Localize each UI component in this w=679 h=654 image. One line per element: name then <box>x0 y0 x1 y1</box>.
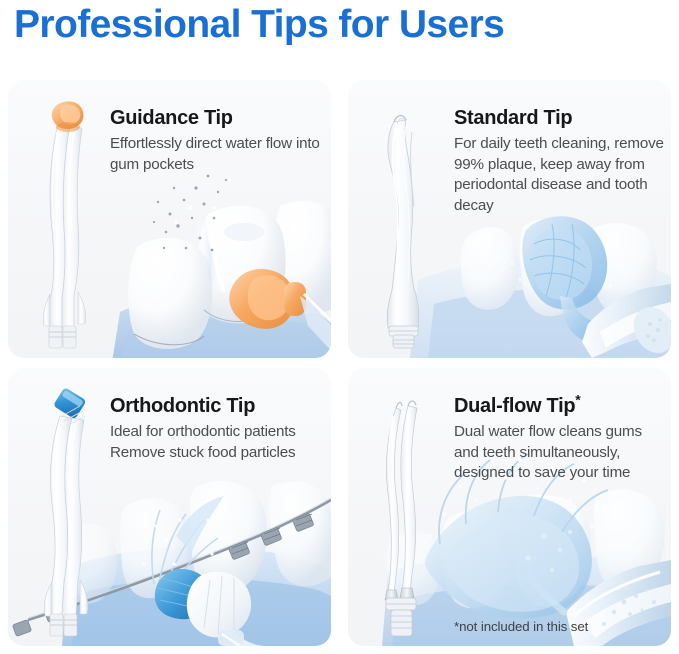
heading-asterisk: * <box>575 391 580 407</box>
card-text-block: Orthodontic Tip Ideal for orthodontic pa… <box>110 394 324 463</box>
card-body: Ideal for orthodontic patients Remove st… <box>110 422 324 463</box>
tip-card-guidance-tip[interactable]: Guidance Tip Effortlessly direct water f… <box>8 80 331 358</box>
card-heading-text: Dual-flow Tip <box>454 395 575 417</box>
tip-cards-grid: Guidance Tip Effortlessly direct water f… <box>8 80 671 646</box>
tip-card-orthodontic-tip[interactable]: Orthodontic Tip Ideal for orthodontic pa… <box>8 368 331 646</box>
card-body: Effortlessly direct water flow into gum … <box>110 134 324 175</box>
card-heading: Dual-flow Tip* <box>454 394 666 418</box>
tip-card-dual-flow-tip[interactable]: Dual-flow Tip* Dual water flow cleans gu… <box>348 368 671 646</box>
card-body: Dual water flow cleans gums and teeth si… <box>454 422 666 484</box>
card-heading: Orthodontic Tip <box>110 394 324 418</box>
card-text-block: Dual-flow Tip* Dual water flow cleans gu… <box>454 394 666 484</box>
dual-flow-tip-nozzle-icon <box>368 386 444 636</box>
card-heading: Guidance Tip <box>110 106 324 130</box>
card-heading: Standard Tip <box>454 106 666 130</box>
card-text-block: Guidance Tip Effortlessly direct water f… <box>110 106 324 175</box>
guidance-tip-nozzle-icon <box>28 98 104 348</box>
orthodontic-tip-nozzle-icon <box>28 386 104 636</box>
standard-tip-nozzle-icon <box>368 98 444 348</box>
card-body: For daily teeth cleaning, remove 99% pla… <box>454 134 666 216</box>
page-title: Professional Tips for Users <box>14 2 504 48</box>
card-text-block: Standard Tip For daily teeth cleaning, r… <box>454 106 666 216</box>
tip-card-standard-tip[interactable]: Standard Tip For daily teeth cleaning, r… <box>348 80 671 358</box>
product-tips-infographic: Professional Tips for Users <box>0 0 679 654</box>
card-footnote: *not included in this set <box>454 619 588 634</box>
